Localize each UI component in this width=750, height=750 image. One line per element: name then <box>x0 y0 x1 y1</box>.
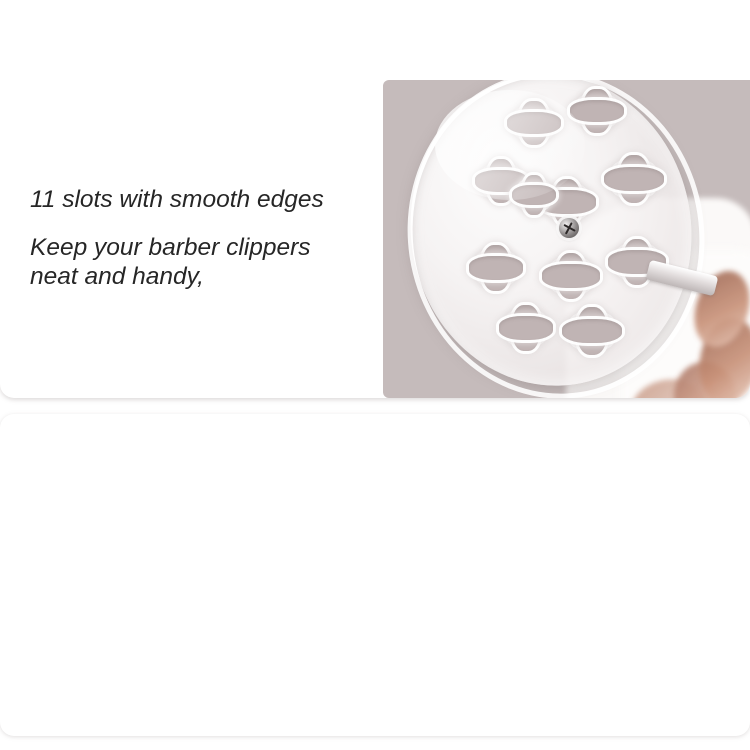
clipper-slot <box>507 312 545 344</box>
center-screw <box>559 218 579 238</box>
feature-line-slots: 11 slots with smooth edges <box>30 186 370 214</box>
top-feature-card: 11 slots with smooth edges Keep your bar… <box>0 0 750 398</box>
clipper-slot <box>515 108 553 138</box>
clipper-slot <box>551 260 591 292</box>
feature-line-neat: neat and handy, <box>30 263 370 291</box>
clipper-slot <box>477 252 515 284</box>
clipper-slot <box>613 162 655 196</box>
clipper-slot <box>578 96 616 126</box>
top-feature-text: 11 slots with smooth edges Keep your bar… <box>30 186 370 291</box>
acrylic-disc <box>411 80 701 398</box>
clipper-slot <box>519 181 549 209</box>
product-details-infographic: Product Details <box>0 0 750 750</box>
clipper-slot <box>571 314 613 348</box>
feature-line-keep: Keep your barber clippers <box>30 234 370 262</box>
clipper-holder-photo <box>383 80 750 398</box>
bottom-feature-card: Stabilizing base Not easily tipped over <box>0 414 750 736</box>
